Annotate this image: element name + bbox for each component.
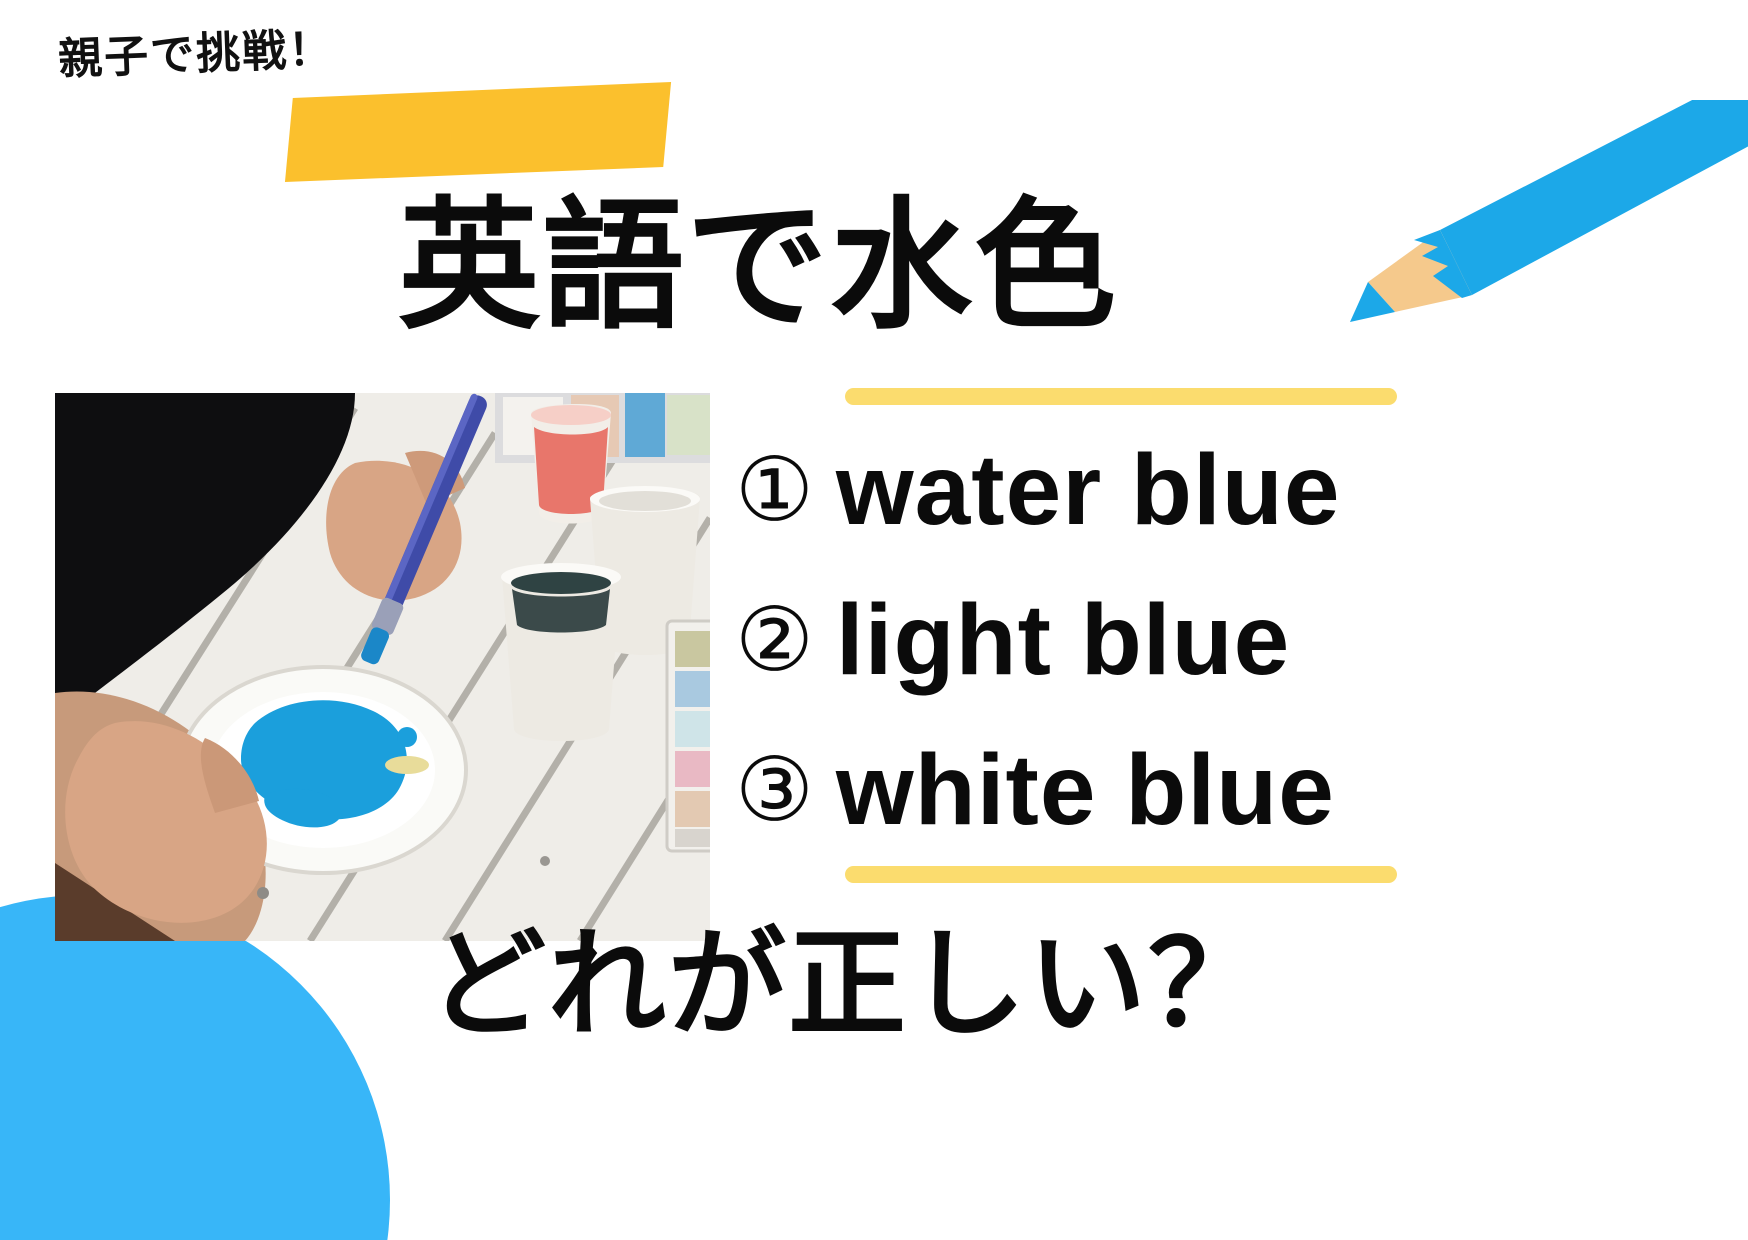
page-title: 英語で水色 — [398, 192, 1118, 341]
closing-question: どれが正しい？ — [428, 888, 1268, 1059]
answer-options-list: ① water blue ② light blue ③ white blue — [735, 415, 1735, 865]
blue-colored-pencil-icon — [1190, 100, 1748, 330]
activity-photo — [55, 393, 710, 941]
challenge-badge-label: 親子で挑戦！ — [0, 0, 394, 107]
answer-option-1[interactable]: ① water blue — [735, 415, 1735, 565]
option-number-3: ③ — [735, 746, 814, 834]
option-label-2: light blue — [836, 590, 1290, 690]
answer-option-2[interactable]: ② light blue — [735, 565, 1735, 715]
divider-rule-top — [845, 388, 1397, 405]
challenge-badge — [283, 82, 675, 182]
divider-rule-bottom — [845, 866, 1397, 883]
option-label-3: white blue — [836, 740, 1335, 840]
option-number-1: ① — [735, 446, 814, 534]
poster-root: 親子で挑戦！ 英語で水色 — [0, 0, 1748, 1240]
option-label-1: water blue — [836, 440, 1341, 540]
answer-option-3[interactable]: ③ white blue — [735, 715, 1735, 865]
option-number-2: ② — [735, 596, 814, 684]
blue-circle-decoration — [0, 895, 390, 1240]
